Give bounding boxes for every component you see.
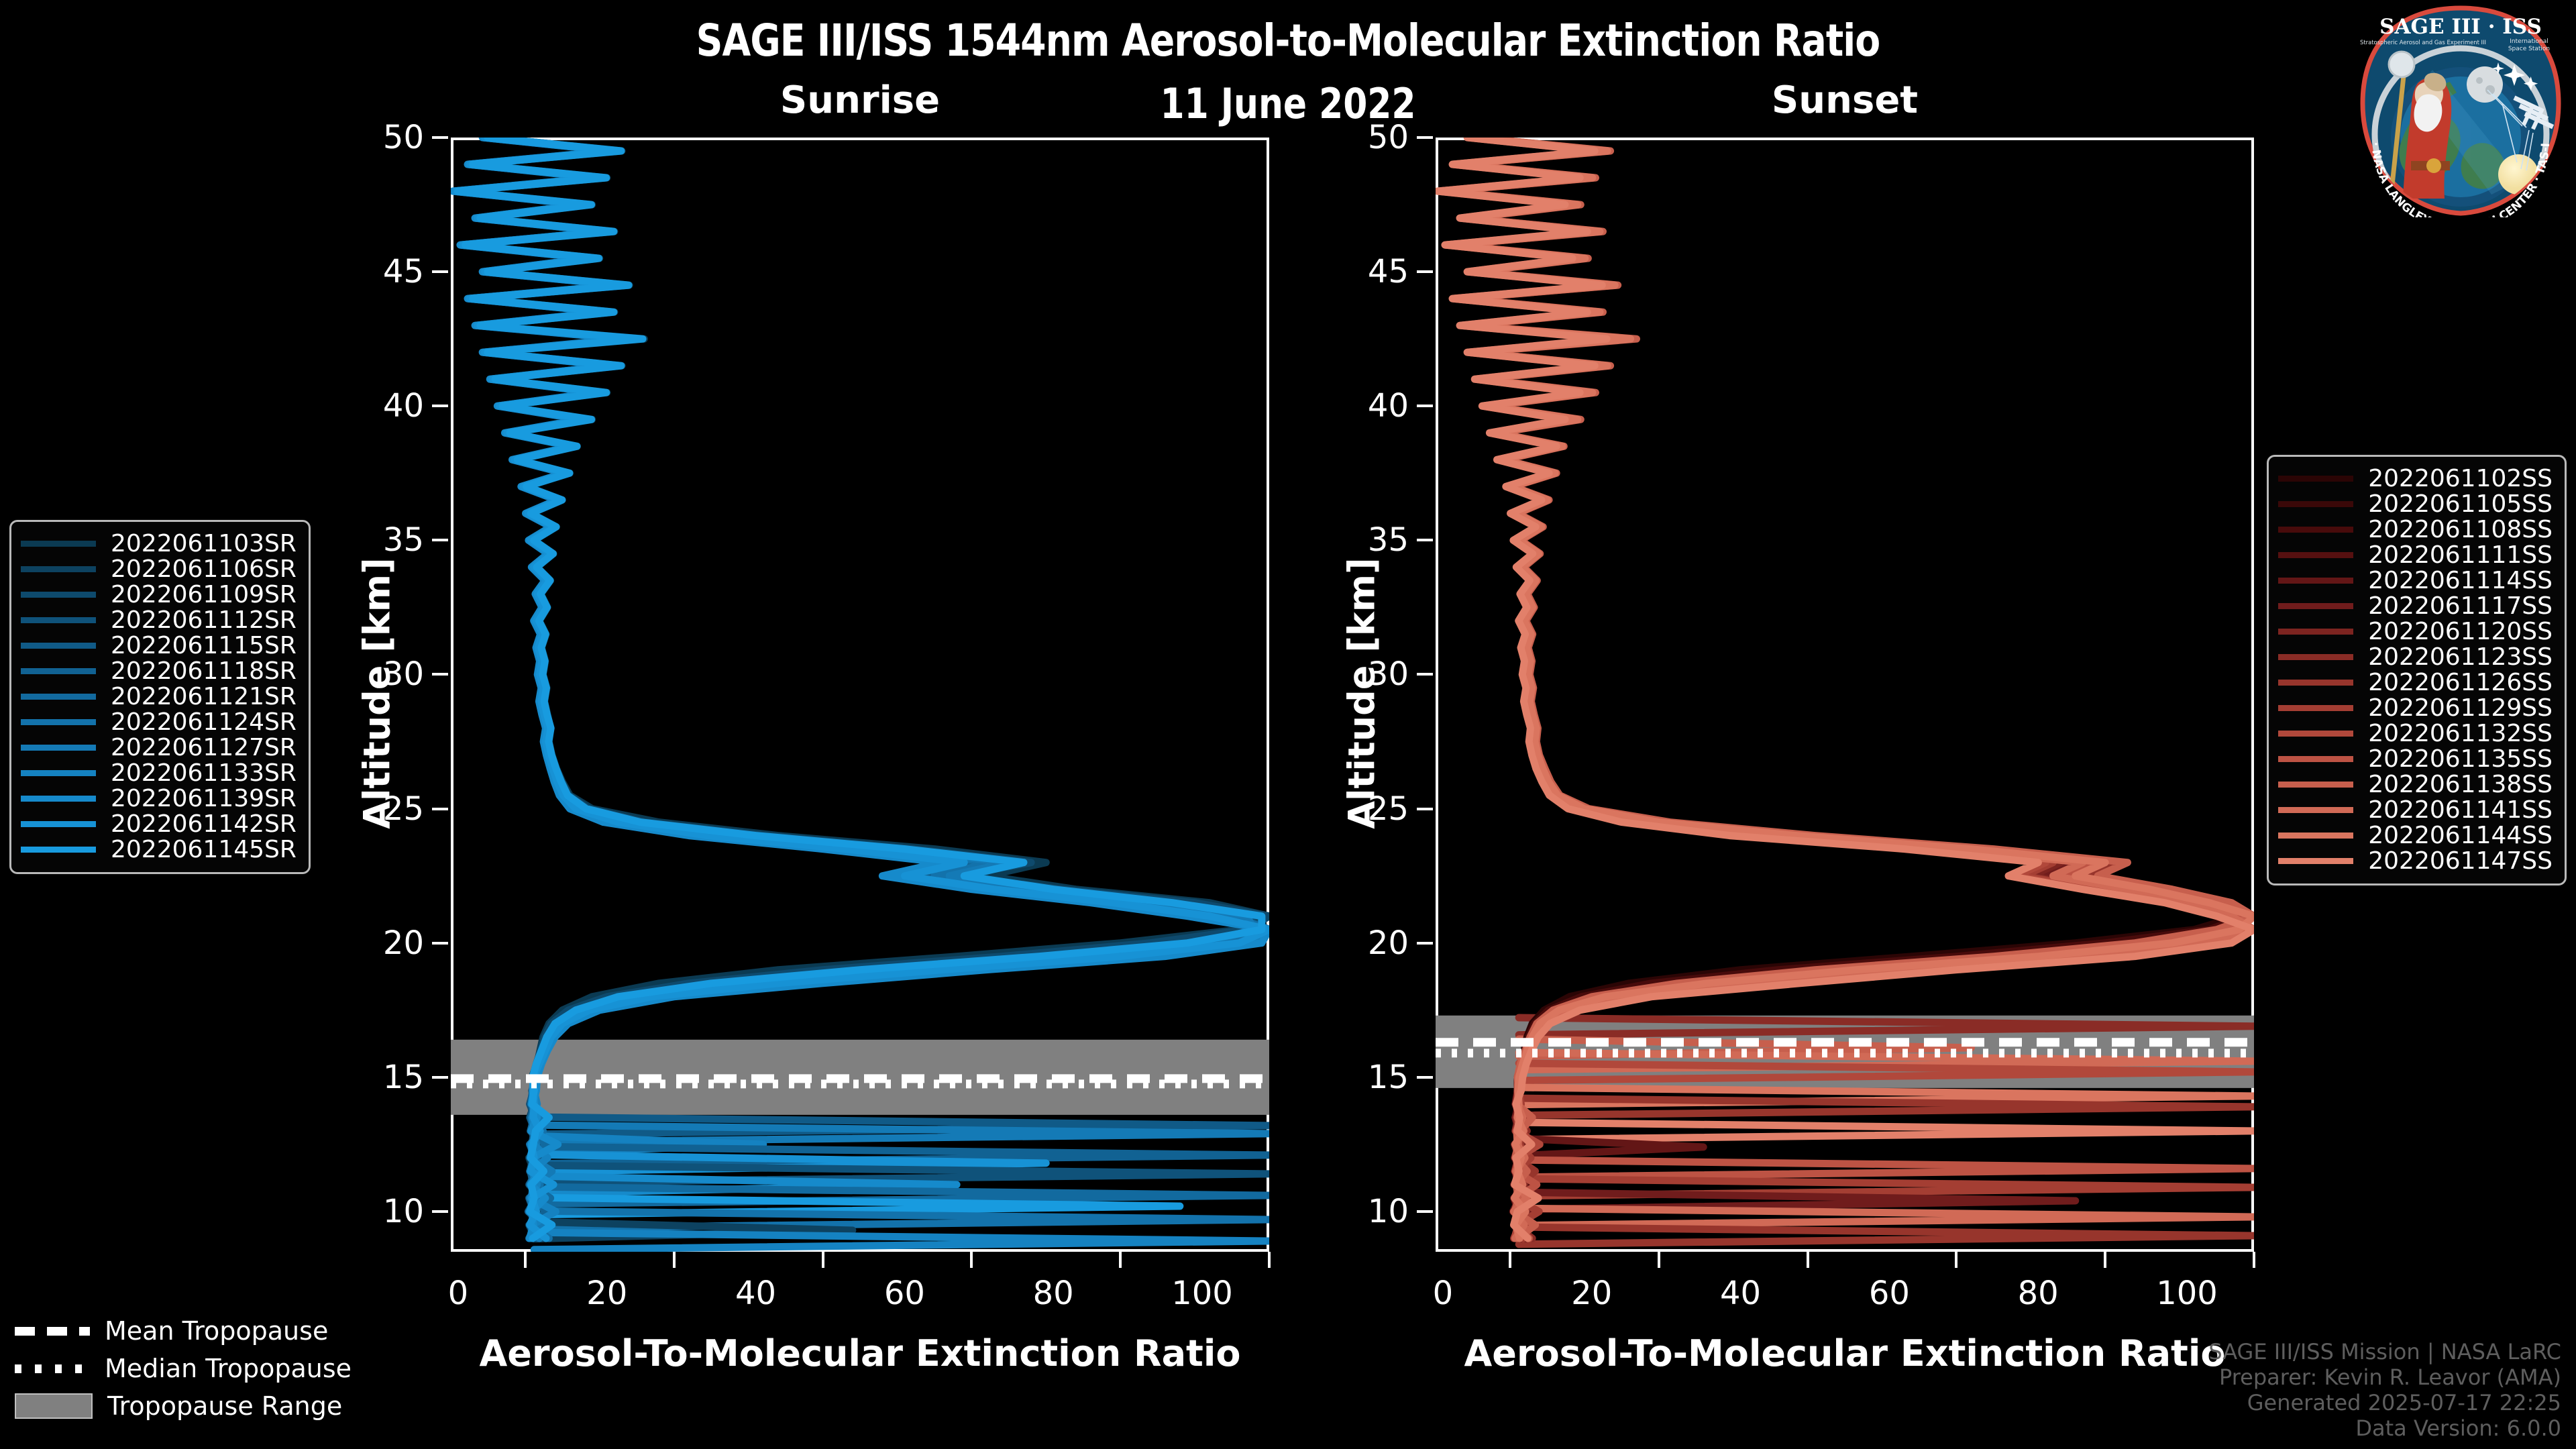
x-tick-label: 40: [689, 1275, 823, 1312]
x-tick-mark: [2104, 1252, 2106, 1268]
y-tick-label: 50: [1301, 119, 1409, 156]
legend-item[interactable]: 2022061139SR: [21, 786, 297, 812]
legend-item-label: 2022061142SR: [111, 810, 297, 838]
x-tick-label: 0: [391, 1275, 525, 1312]
logo-subtitle-right-2: Space Station: [2508, 46, 2550, 52]
legend-color-swatch: [2278, 807, 2353, 813]
legend-item-label: 2022061118SR: [111, 657, 297, 685]
legend-item-label: 2022061138SS: [2368, 771, 2553, 798]
x-tick-label: 100: [2120, 1275, 2254, 1312]
legend-item-label: 2022061135SS: [2368, 745, 2553, 773]
median-tropopause-key: [15, 1359, 90, 1378]
profile-excursion: [1519, 1122, 2254, 1140]
tropopause-legend-item: Mean Tropopause: [15, 1315, 352, 1347]
legend-color-swatch: [2278, 858, 2353, 864]
legend-color-swatch: [2278, 603, 2353, 609]
x-axis-label-sunrise: Aerosol-To-Molecular Extinction Ratio: [424, 1332, 1296, 1375]
y-tick-label: 15: [1301, 1059, 1409, 1096]
legend-item[interactable]: 2022061117SS: [2278, 594, 2553, 619]
legend-color-swatch: [21, 694, 96, 700]
credits-block: SAGE III/ISS Mission | NASA LaRCPreparer…: [2208, 1339, 2561, 1441]
y-tick-label: 45: [1301, 253, 1409, 290]
legend-color-swatch: [2278, 552, 2353, 558]
y-axis-label-sunrise: Altitude [km]: [356, 391, 398, 995]
legend-item-label: 2022061103SR: [111, 530, 297, 557]
legend-item[interactable]: 2022061144SS: [2278, 823, 2553, 849]
legend-item-label: 2022061124SR: [111, 708, 297, 736]
y-tick-label: 10: [317, 1193, 424, 1230]
legend-color-swatch: [21, 719, 96, 725]
y-tick-label: 45: [317, 253, 424, 290]
legend-item[interactable]: 2022061121SR: [21, 684, 297, 710]
legend-item-label: 2022061126SS: [2368, 669, 2553, 696]
mean-tropopause-key: [15, 1322, 90, 1340]
legend-item-label: 2022061106SR: [111, 555, 297, 583]
legend-item-label: 2022061129SS: [2368, 694, 2553, 722]
legend-item[interactable]: 2022061118SR: [21, 659, 297, 684]
tropopause-legend-label: Median Tropopause: [105, 1354, 352, 1383]
y-tick-mark: [1417, 539, 1433, 541]
legend-item-label: 2022061115SR: [111, 632, 297, 659]
legend-item[interactable]: 2022061108SS: [2278, 517, 2553, 543]
x-tick-label: 60: [837, 1275, 971, 1312]
legend-item-label: 2022061102SS: [2368, 465, 2553, 492]
tropopause-legend-label: Mean Tropopause: [105, 1316, 328, 1346]
profile-curves-sunset: [1436, 138, 2254, 1252]
logo-subtitle-left: Stratospheric Aerosol and Gas Experiment…: [2360, 39, 2486, 46]
legend-item[interactable]: 2022061147SS: [2278, 849, 2553, 874]
x-tick-mark: [822, 1252, 824, 1268]
x-tick-mark: [524, 1252, 527, 1268]
x-tick-label: 80: [986, 1275, 1120, 1312]
legend-item[interactable]: 2022061106SR: [21, 557, 297, 582]
x-tick-label: 80: [1971, 1275, 2105, 1312]
legend-color-swatch: [2278, 578, 2353, 584]
x-axis-label-sunset: Aerosol-To-Molecular Extinction Ratio: [1409, 1332, 2281, 1375]
legend-color-swatch: [21, 796, 96, 802]
logo-title: SAGE III · ISS: [2379, 15, 2542, 39]
legend-color-swatch: [2278, 705, 2353, 711]
legend-item-label: 2022061147SS: [2368, 847, 2553, 875]
x-tick-label: 40: [1674, 1275, 1808, 1312]
x-tick-mark: [1509, 1252, 1511, 1268]
profile-excursion: [534, 1232, 1269, 1250]
x-tick-mark: [2253, 1252, 2255, 1268]
legend-item-label: 2022061123SS: [2368, 643, 2553, 671]
legend-item[interactable]: 2022061124SR: [21, 710, 297, 735]
legend-color-swatch: [2278, 756, 2353, 762]
legend-item[interactable]: 2022061132SS: [2278, 721, 2553, 747]
legend-sunset[interactable]: 2022061102SS2022061105SS2022061108SS2022…: [2267, 455, 2567, 885]
legend-item[interactable]: 2022061112SR: [21, 608, 297, 633]
legend-item-label: 2022061132SS: [2368, 720, 2553, 747]
legend-item-label: 2022061127SR: [111, 734, 297, 761]
legend-item-label: 2022061111SS: [2368, 541, 2553, 569]
legend-color-swatch: [21, 847, 96, 853]
y-tick-mark: [432, 942, 448, 945]
legend-item-label: 2022061108SS: [2368, 516, 2553, 543]
y-tick-label: 50: [317, 119, 424, 156]
y-tick-mark: [1417, 136, 1433, 139]
legend-color-swatch: [21, 617, 96, 623]
x-tick-label: 20: [540, 1275, 674, 1312]
y-tick-mark: [1417, 270, 1433, 273]
legend-item-label: 2022061120SS: [2368, 618, 2553, 645]
legend-item-label: 2022061133SR: [111, 759, 297, 787]
legend-item[interactable]: 2022061114SS: [2278, 568, 2553, 594]
legend-item-label: 2022061145SR: [111, 836, 297, 863]
tropopause-range-key: [15, 1393, 93, 1419]
y-tick-mark: [432, 673, 448, 676]
legend-color-swatch: [2278, 731, 2353, 737]
logo-subtitle-right-1: International: [2510, 38, 2548, 45]
panel-title-sunrise: Sunrise: [451, 78, 1269, 122]
x-tick-label: 100: [1135, 1275, 1269, 1312]
x-tick-mark: [1807, 1252, 1809, 1268]
legend-color-swatch: [21, 745, 96, 751]
legend-color-swatch: [21, 541, 96, 547]
legend-color-swatch: [2278, 680, 2353, 686]
legend-color-swatch: [2278, 782, 2353, 788]
legend-color-swatch: [2278, 654, 2353, 660]
tropopause-legend-item: Tropopause Range: [15, 1390, 352, 1422]
legend-color-swatch: [21, 643, 96, 649]
legend-item[interactable]: 2022061123SS: [2278, 645, 2553, 670]
sage-iii-iss-mission-patch-logo: SAGE III · ISS Stratospheric Aerosol and…: [2353, 3, 2568, 217]
y-tick-mark: [432, 136, 448, 139]
legend-item[interactable]: 2022061102SS: [2278, 466, 2553, 492]
x-tick-label: 60: [1822, 1275, 1956, 1312]
profile-curves-sunrise: [451, 138, 1269, 1252]
legend-sunrise[interactable]: 2022061103SR2022061106SR2022061109SR2022…: [9, 520, 311, 874]
legend-item[interactable]: 2022061115SR: [21, 633, 297, 659]
x-tick-mark: [673, 1252, 676, 1268]
profile-excursion: [1519, 1208, 2254, 1226]
y-tick-mark: [1417, 1076, 1433, 1079]
y-tick-mark: [1417, 808, 1433, 810]
tropopause-legend-item: Median Tropopause: [15, 1352, 352, 1385]
legend-item[interactable]: 2022061105SS: [2278, 492, 2553, 517]
y-tick-mark: [432, 405, 448, 407]
credit-line: SAGE III/ISS Mission | NASA LaRC: [2208, 1339, 2561, 1364]
credit-line: Preparer: Kevin R. Leavor (AMA): [2208, 1364, 2561, 1390]
legend-color-swatch: [21, 821, 96, 827]
legend-item[interactable]: 2022061109SR: [21, 582, 297, 608]
legend-item-label: 2022061109SR: [111, 581, 297, 608]
credit-line: Data Version: 6.0.0: [2208, 1415, 2561, 1441]
x-tick-mark: [1268, 1252, 1271, 1268]
legend-color-swatch: [2278, 501, 2353, 507]
legend-color-swatch: [2278, 527, 2353, 533]
y-tick-mark: [432, 808, 448, 810]
legend-item[interactable]: 2022061145SR: [21, 837, 297, 863]
legend-item[interactable]: 2022061138SS: [2278, 772, 2553, 798]
legend-color-swatch: [2278, 629, 2353, 635]
y-tick-label: 15: [317, 1059, 424, 1096]
tropopause-legend-label: Tropopause Range: [107, 1391, 342, 1421]
y-axis-label-sunset: Altitude [km]: [1341, 391, 1383, 995]
legend-color-swatch: [2278, 476, 2353, 482]
legend-item-label: 2022061121SR: [111, 683, 297, 710]
tropopause-legend: Mean TropopauseMedian TropopauseTropopau…: [15, 1315, 352, 1428]
y-tick-mark: [1417, 942, 1433, 945]
legend-item[interactable]: 2022061135SS: [2278, 747, 2553, 772]
legend-item-label: 2022061112SR: [111, 606, 297, 634]
x-tick-label: 20: [1525, 1275, 1659, 1312]
profile-excursion: [1519, 1227, 2254, 1244]
legend-item-label: 2022061141SS: [2368, 796, 2553, 824]
x-tick-mark: [1119, 1252, 1122, 1268]
legend-item[interactable]: 2022061120SS: [2278, 619, 2553, 645]
legend-item-label: 2022061105SS: [2368, 490, 2553, 518]
legend-color-swatch: [21, 668, 96, 674]
legend-item-label: 2022061114SS: [2368, 567, 2553, 594]
y-tick-mark: [1417, 1210, 1433, 1213]
legend-item[interactable]: 2022061142SR: [21, 812, 297, 837]
legend-item[interactable]: 2022061103SR: [21, 531, 297, 557]
y-tick-mark: [432, 1076, 448, 1079]
y-tick-mark: [432, 270, 448, 273]
y-tick-mark: [432, 1210, 448, 1213]
legend-color-swatch: [21, 566, 96, 572]
y-tick-label: 10: [1301, 1193, 1409, 1230]
legend-item[interactable]: 2022061111SS: [2278, 543, 2553, 568]
y-tick-mark: [432, 539, 448, 541]
legend-item[interactable]: 2022061127SR: [21, 735, 297, 761]
legend-color-swatch: [2278, 833, 2353, 839]
legend-item[interactable]: 2022061141SS: [2278, 798, 2553, 823]
legend-item[interactable]: 2022061129SS: [2278, 696, 2553, 721]
profile-excursion: [1519, 1160, 2254, 1177]
credit-line: Generated 2025-07-17 22:25: [2208, 1390, 2561, 1415]
x-tick-mark: [1955, 1252, 1957, 1268]
plot-area-sunrise[interactable]: [451, 138, 1269, 1252]
page-title: SAGE III/ISS 1544nm Aerosol-to-Molecular…: [90, 15, 2485, 66]
legend-item[interactable]: 2022061133SR: [21, 761, 297, 786]
y-tick-mark: [1417, 405, 1433, 407]
legend-item[interactable]: 2022061126SS: [2278, 670, 2553, 696]
x-tick-label: 0: [1376, 1275, 1510, 1312]
legend-item-label: 2022061144SS: [2368, 822, 2553, 849]
legend-color-swatch: [21, 592, 96, 598]
legend-color-swatch: [21, 770, 96, 776]
x-tick-mark: [1658, 1252, 1660, 1268]
plot-area-sunset[interactable]: [1436, 138, 2254, 1252]
y-tick-mark: [1417, 673, 1433, 676]
x-tick-mark: [970, 1252, 973, 1268]
legend-item-label: 2022061139SR: [111, 785, 297, 812]
panel-title-sunset: Sunset: [1436, 78, 2254, 122]
legend-item-label: 2022061117SS: [2368, 592, 2553, 620]
